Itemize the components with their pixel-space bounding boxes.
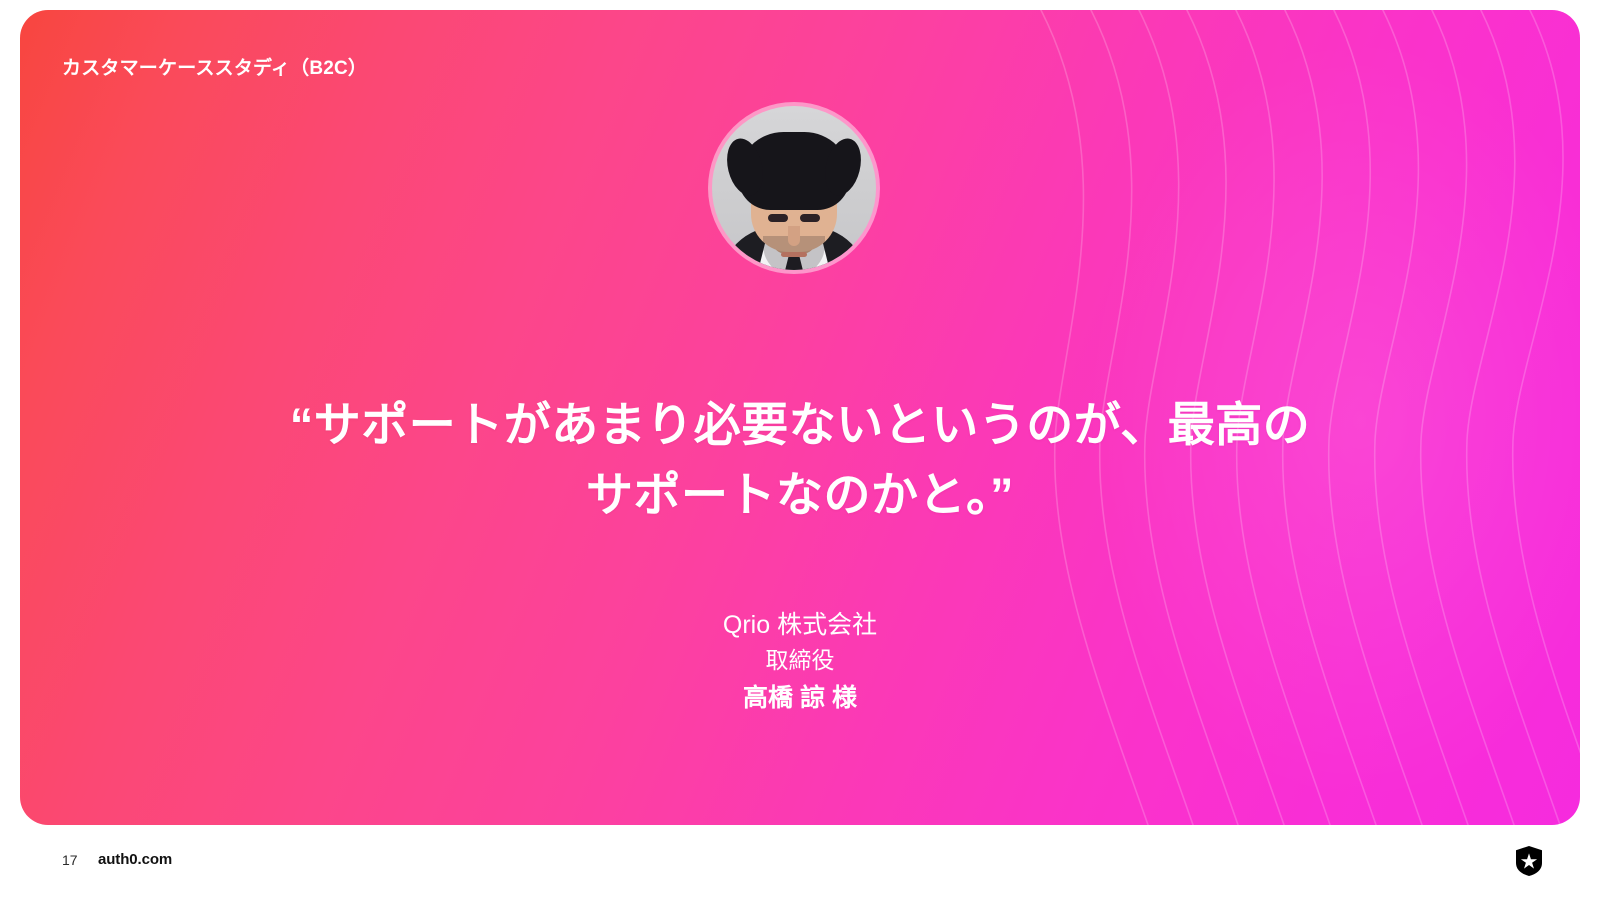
auth0-shield-logo-icon bbox=[1516, 846, 1542, 876]
avatar-ring bbox=[708, 102, 880, 274]
avatar-mouth bbox=[781, 252, 807, 257]
attribution-company: Qrio 株式会社 bbox=[20, 607, 1580, 643]
attribution-person: 高橋 諒 様 bbox=[20, 679, 1580, 718]
avatar-nose bbox=[788, 226, 800, 246]
attribution-role: 取締役 bbox=[20, 643, 1580, 679]
slide-footer: 17 auth0.com bbox=[0, 826, 1600, 900]
quote-line-2: サポートなのかと。” bbox=[20, 460, 1580, 530]
gradient-panel: カスタマーケーススタディ（B2C） bbox=[20, 10, 1580, 825]
avatar-eye-left bbox=[768, 214, 788, 222]
avatar-eye-right bbox=[800, 214, 820, 222]
slide: カスタマーケーススタディ（B2C） bbox=[0, 0, 1600, 900]
quote-block: “サポートがあまり必要ないというのが、最高の サポートなのかと。” bbox=[20, 390, 1580, 529]
avatar-hair bbox=[738, 132, 850, 210]
footer-brand-label: auth0.com bbox=[98, 851, 172, 868]
attribution-block: Qrio 株式会社 取締役 高橋 諒 様 bbox=[20, 607, 1580, 718]
quote-line-1: “サポートがあまり必要ないというのが、最高の bbox=[20, 390, 1580, 460]
footer-page-number: 17 bbox=[62, 852, 78, 868]
avatar bbox=[712, 106, 876, 270]
slide-eyebrow-label: カスタマーケーススタディ（B2C） bbox=[62, 53, 367, 80]
